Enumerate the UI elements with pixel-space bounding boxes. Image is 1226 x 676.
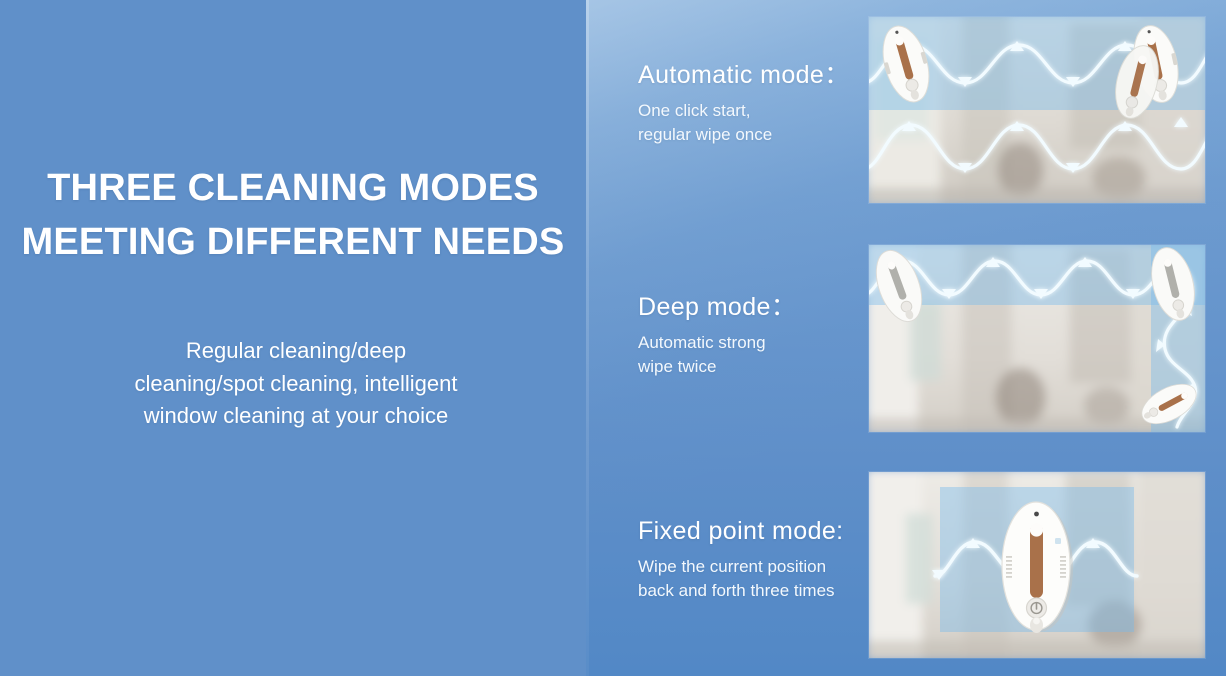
mode-description-automatic: One click start, regular wipe once — [638, 99, 850, 147]
mode-description-fixed-point: Wipe the current position back and forth… — [638, 555, 844, 603]
mode-text-deep: Deep mode： Automatic strong wipe twice — [638, 294, 796, 379]
mode-text-automatic: Automatic mode： One click start, regular… — [638, 62, 850, 147]
mode-image-deep — [869, 245, 1205, 432]
mode-title-automatic: Automatic mode： — [638, 62, 850, 90]
mode-title-deep: Deep mode： — [638, 294, 796, 322]
page-title: THREE CLEANING MODES MEETING DIFFERENT N… — [0, 162, 586, 270]
slide-canvas: THREE CLEANING MODES MEETING DIFFERENT N… — [0, 0, 1226, 676]
headline-line-1: THREE CLEANING MODES — [0, 162, 586, 216]
mode-title-fixed-point: Fixed point mode: — [638, 518, 844, 546]
headline-line-2: MEETING DIFFERENT NEEDS — [0, 216, 586, 270]
mode-description-deep: Automatic strong wipe twice — [638, 331, 796, 379]
mode-image-fixed-point — [869, 472, 1205, 658]
mode-text-fixed-point: Fixed point mode: Wipe the current posit… — [638, 518, 844, 603]
mode-image-automatic — [869, 17, 1205, 203]
subheading-copy: Regular cleaning/deep cleaning/spot clea… — [120, 335, 472, 433]
robot-device-3 — [997, 498, 1077, 634]
